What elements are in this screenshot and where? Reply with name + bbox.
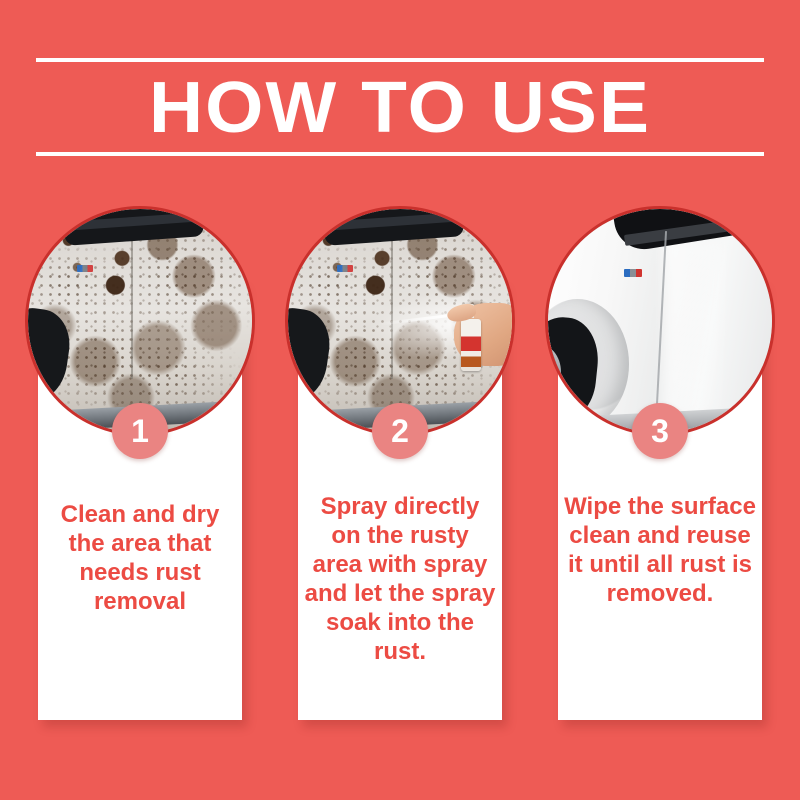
rusty-panel-image-2 (288, 209, 512, 433)
step-number-badge-3: 3 (632, 403, 688, 459)
steps-container: 1 2 3 Clean and dry the area that needs … (0, 0, 800, 800)
step-photo-3 (545, 206, 775, 436)
step-number-badge-1: 1 (112, 403, 168, 459)
clean-car-image-3 (548, 209, 772, 433)
car-emblem-icon (77, 265, 93, 272)
step-text-3: Wipe the surface clean and reuse it unti… (558, 492, 762, 608)
step-number-badge-2: 2 (372, 403, 428, 459)
car-emblem-icon (337, 265, 353, 272)
rusty-panel-image-1 (28, 209, 252, 433)
how-to-use-poster: HOW TO USE (0, 0, 800, 800)
step-text-2: Spray directly on the rusty area with sp… (298, 492, 502, 666)
spray-bottle-icon (461, 319, 481, 371)
step-photo-1 (25, 206, 255, 436)
m-badge-icon (624, 269, 642, 277)
panel-seam (131, 218, 133, 379)
step-text-1: Clean and dry the area that needs rust r… (38, 500, 242, 616)
step-photo-2 (285, 206, 515, 436)
body-highlight (664, 236, 722, 415)
